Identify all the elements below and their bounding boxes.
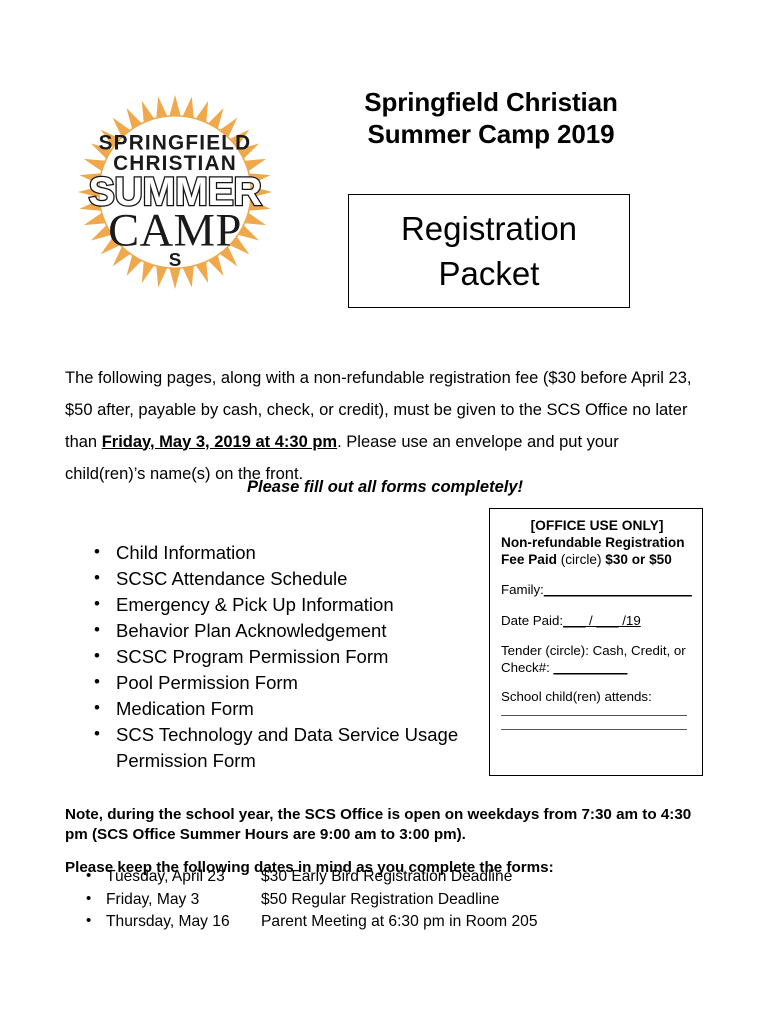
office-school-blank-line-2[interactable]: [501, 729, 687, 730]
office-school-row: School child(ren) attends:: [501, 689, 693, 706]
list-item: SCSC Program Permission Form: [88, 644, 488, 670]
office-family-label: Family:: [501, 582, 544, 597]
date-value: Friday, May 3: [106, 889, 261, 912]
form-label: Child Information: [116, 542, 256, 563]
office-check-number-blank[interactable]: __________: [553, 660, 627, 675]
list-item: SCS Technology and Data Service Usage Pe…: [88, 722, 488, 773]
form-label: SCS Technology and Data Service Usage Pe…: [116, 724, 458, 771]
office-use-only-box: [OFFICE USE ONLY] Non-refundable Registr…: [489, 508, 703, 776]
registration-packet-line-2: Packet: [439, 251, 540, 296]
office-tender-row: Tender (circle): Cash, Credit, or Check#…: [501, 643, 693, 676]
form-label: Medication Form: [116, 698, 254, 719]
list-item: Behavior Plan Acknowledgement: [88, 618, 488, 644]
logo-line-springfield: SPRINGFIELD: [99, 131, 252, 154]
office-fee-amounts: $30 or $50: [605, 552, 672, 567]
list-item: Thursday, May 16 Parent Meeting at 6:30 …: [80, 911, 700, 934]
list-item: Friday, May 3 $50 Regular Registration D…: [80, 889, 700, 912]
form-label: Emergency & Pick Up Information: [116, 594, 394, 615]
office-date-paid-blank[interactable]: ___ / ___ /19: [563, 613, 641, 628]
list-item: SCSC Attendance Schedule: [88, 566, 488, 592]
office-date-paid-label: Date Paid:: [501, 613, 563, 628]
office-date-paid-row: Date Paid:___ / ___ /19: [501, 613, 693, 630]
important-dates-list: Tuesday, April 23 $30 Early Bird Registr…: [80, 866, 700, 934]
date-value: Thursday, May 16: [106, 911, 261, 934]
list-item: Child Information: [88, 540, 488, 566]
intro-paragraph: The following pages, along with a non-re…: [65, 362, 695, 490]
form-label: SCSC Program Permission Form: [116, 646, 388, 667]
submission-deadline: Friday, May 3, 2019 at 4:30 pm: [102, 433, 337, 451]
list-item: Emergency & Pick Up Information: [88, 592, 488, 618]
form-label: SCSC Attendance Schedule: [116, 568, 347, 589]
summer-camp-logo-badge: SPRINGFIELD CHRISTIAN SUMMER CAMP S: [76, 78, 274, 306]
form-label: Pool Permission Form: [116, 672, 298, 693]
office-family-row: Family:____________________: [501, 582, 693, 599]
registration-packet-page: SPRINGFIELD CHRISTIAN SUMMER CAMP S Spri…: [0, 0, 770, 1024]
date-description: $30 Early Bird Registration Deadline: [261, 866, 700, 889]
date-description: $50 Regular Registration Deadline: [261, 889, 700, 912]
office-fee-circle-hint: (circle): [557, 552, 605, 567]
page-title-line-2: Summer Camp 2019: [332, 118, 650, 150]
forms-checklist: Child Information SCSC Attendance Schedu…: [88, 540, 488, 774]
page-title-line-1: Springfield Christian: [332, 86, 650, 118]
office-school-label: School child(ren) attends:: [501, 689, 652, 704]
date-description: Parent Meeting at 6:30 pm in Room 205: [261, 911, 700, 934]
office-fee-paid-line: Non-refundable Registration Fee Paid (ci…: [501, 534, 693, 568]
registration-packet-line-1: Registration: [401, 206, 577, 251]
office-family-blank[interactable]: ____________________: [544, 582, 692, 597]
list-item: Medication Form: [88, 696, 488, 722]
page-title: Springfield Christian Summer Camp 2019: [332, 86, 650, 150]
date-value: Tuesday, April 23: [106, 866, 261, 889]
office-hours-note: Note, during the school year, the SCS Of…: [65, 805, 695, 845]
list-item: Tuesday, April 23 $30 Early Bird Registr…: [80, 866, 700, 889]
fill-out-forms-note: Please fill out all forms completely!: [65, 478, 705, 497]
starburst-badge-graphic: SPRINGFIELD CHRISTIAN SUMMER CAMP S: [76, 78, 274, 306]
logo-line-s: S: [169, 249, 182, 270]
form-label: Behavior Plan Acknowledgement: [116, 620, 386, 641]
office-school-blank-line-1[interactable]: [501, 715, 687, 716]
office-use-only-title: [OFFICE USE ONLY]: [501, 517, 693, 534]
registration-packet-title-box: Registration Packet: [348, 194, 630, 308]
list-item: Pool Permission Form: [88, 670, 488, 696]
